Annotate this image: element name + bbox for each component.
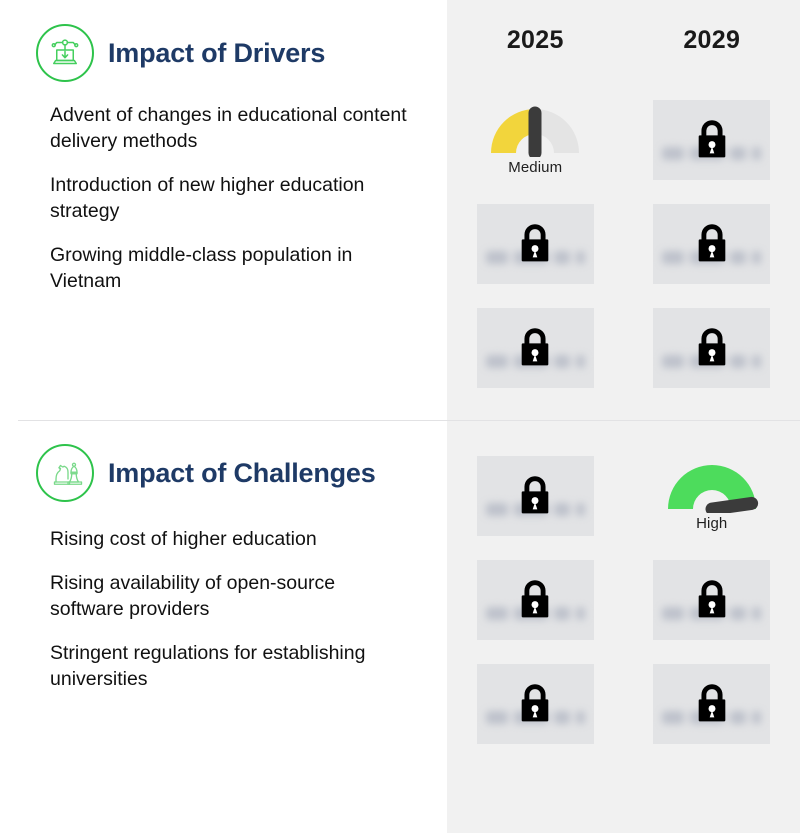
list-item: Growing middle-class population in Vietn…	[50, 242, 410, 294]
driver-items-list: Advent of changes in educational content…	[0, 82, 447, 294]
column-header-row: 2025 2029	[447, 26, 800, 55]
locked-cell[interactable]	[624, 548, 800, 652]
cell-row: Medium	[447, 88, 800, 192]
locked-cell[interactable]	[624, 652, 800, 756]
column-header-2029: 2029	[624, 26, 800, 55]
locked-value-box[interactable]	[477, 664, 594, 744]
list-item: Stringent regulations for establishing u…	[50, 640, 410, 692]
cell-row	[447, 652, 800, 756]
lock-glyph	[693, 222, 731, 266]
challenge-items-list: Rising cost of higher education Rising a…	[0, 502, 447, 692]
list-item: Introduction of new higher education str…	[50, 172, 410, 224]
cell-grid-drivers: Medium	[447, 88, 800, 400]
section-challenges: Impact of Challenges Rising cost of high…	[0, 420, 447, 710]
list-item: Rising cost of higher education	[50, 526, 410, 552]
cell-row	[447, 548, 800, 652]
chess-pieces-icon	[36, 444, 94, 502]
locked-value-box[interactable]	[653, 100, 770, 180]
lock-glyph	[516, 578, 554, 622]
locked-cell[interactable]	[624, 296, 800, 400]
section-drivers: Impact of Drivers Advent of changes in e…	[0, 0, 447, 312]
locked-value-box[interactable]	[477, 308, 594, 388]
section-divider-right	[447, 420, 800, 421]
list-item: Rising availability of open-source softw…	[50, 570, 410, 622]
cell-row	[447, 192, 800, 296]
locked-value-box[interactable]	[653, 664, 770, 744]
cell-row: High	[447, 444, 800, 548]
column-header-2025: 2025	[447, 26, 624, 55]
right-data-panel: 2025 2029 Medium High	[447, 0, 800, 833]
lock-glyph	[516, 326, 554, 370]
locked-cell[interactable]	[447, 296, 624, 400]
locked-cell[interactable]	[624, 192, 800, 296]
locked-cell[interactable]	[447, 548, 624, 652]
section-title-challenges: Impact of Challenges	[108, 458, 376, 489]
impact-matrix-board: Impact of Drivers Advent of changes in e…	[0, 0, 800, 833]
locked-value-box[interactable]	[653, 308, 770, 388]
locked-cell[interactable]	[447, 192, 624, 296]
gauge-level-label: High	[696, 515, 727, 532]
locked-value-box[interactable]	[653, 204, 770, 284]
lock-glyph	[693, 682, 731, 726]
lock-glyph	[516, 222, 554, 266]
locked-value-box[interactable]	[653, 560, 770, 640]
locked-cell[interactable]	[624, 88, 800, 192]
lock-glyph	[693, 326, 731, 370]
gauge-cell[interactable]: Medium	[447, 88, 624, 192]
locked-value-box[interactable]	[477, 456, 594, 536]
lock-glyph	[516, 682, 554, 726]
lock-glyph	[693, 118, 731, 162]
locked-value-box[interactable]	[477, 560, 594, 640]
locked-cell[interactable]	[447, 652, 624, 756]
lock-glyph	[516, 474, 554, 518]
section-header-drivers: Impact of Drivers	[0, 0, 447, 82]
locked-value-box[interactable]	[477, 204, 594, 284]
locked-cell[interactable]	[447, 444, 624, 548]
lock-glyph	[693, 578, 731, 622]
gauge-level-label: Medium	[508, 159, 562, 176]
gauge-arc-svg	[487, 105, 583, 157]
cell-row	[447, 296, 800, 400]
gauge-cell[interactable]: High	[624, 444, 800, 548]
cell-grid-challenges: High	[447, 444, 800, 756]
left-label-panel: Impact of Drivers Advent of changes in e…	[0, 0, 447, 833]
gauge-arc-svg	[664, 461, 760, 513]
gauge-meter[interactable]: Medium	[487, 88, 583, 192]
laptop-download-icon	[36, 24, 94, 82]
section-header-challenges: Impact of Challenges	[0, 420, 447, 502]
section-title-drivers: Impact of Drivers	[108, 38, 325, 69]
gauge-meter[interactable]: High	[664, 444, 760, 548]
gauge-needle	[712, 503, 752, 509]
list-item: Advent of changes in educational content…	[50, 102, 410, 154]
